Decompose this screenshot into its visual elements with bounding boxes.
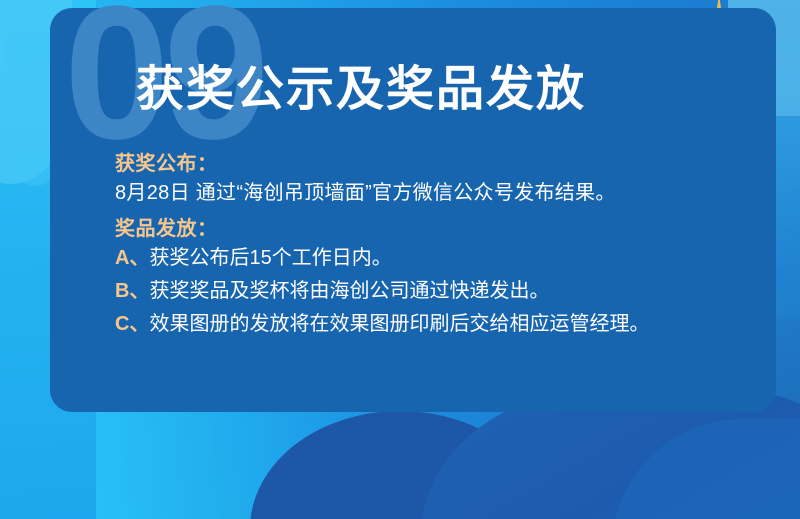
delivery-label: 奖品发放： [115,219,755,239]
list-item: C、效果图册的发放将在效果图册印刷后交给相应运管经理。 [115,314,755,334]
list-item-text: 获奖公布后15个工作日内。 [149,247,391,269]
delivery-item-list: A、获奖公布后15个工作日内。 B、获奖奖品及奖杯将由海创公司通过快递发出。 C… [115,248,755,334]
content-body: 获奖公布： 8月28日 通过“海创吊顶墙面”官方微信公众号发布结果。 奖品发放：… [115,154,755,347]
list-item-text: 效果图册的发放将在效果图册印刷后交给相应运管经理。 [149,313,649,335]
list-item-key: A、 [115,247,149,269]
list-item: A、获奖公布后15个工作日内。 [115,248,755,268]
poster-slide: 09 获奖公示及奖品发放 获奖公布： 8月28日 通过“海创吊顶墙面”官方微信公… [0,0,800,519]
page-title: 获奖公示及奖品发放 [136,64,586,117]
list-item-key: B、 [115,280,149,302]
content-card: 09 获奖公示及奖品发放 获奖公布： 8月28日 通过“海创吊顶墙面”官方微信公… [50,8,776,412]
list-item-key: C、 [115,313,149,335]
list-item-text: 获奖奖品及奖杯将由海创公司通过快递发出。 [149,280,549,302]
list-item: B、获奖奖品及奖杯将由海创公司通过快递发出。 [115,281,755,301]
announcement-line: 8月28日 通过“海创吊顶墙面”官方微信公众号发布结果。 [115,183,755,203]
announcement-label: 获奖公布： [115,154,755,174]
